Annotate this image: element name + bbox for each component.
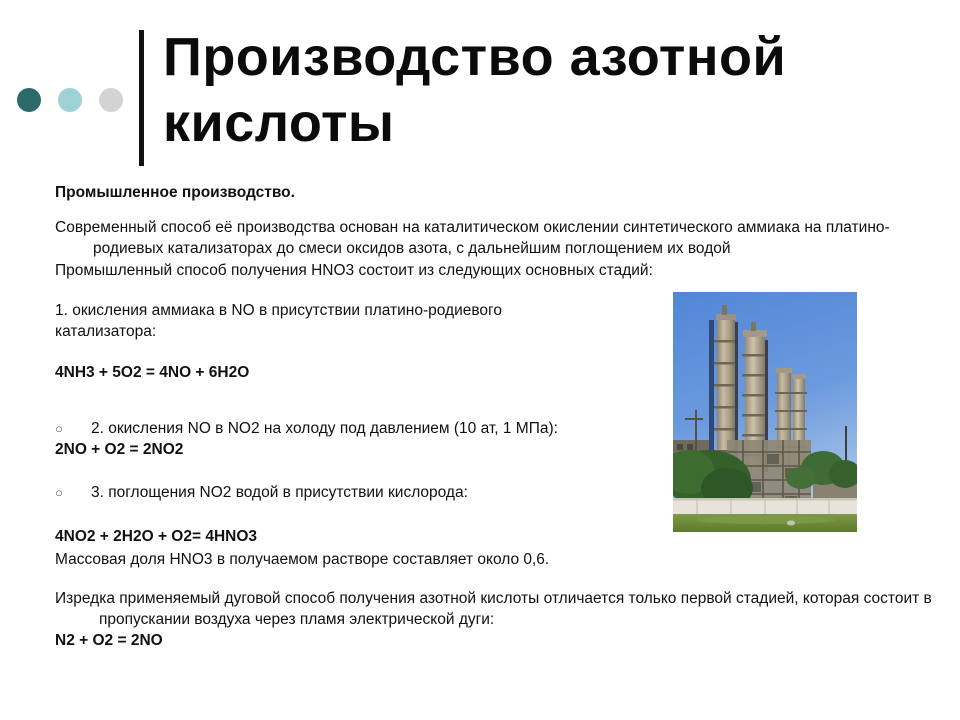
dot-light-teal-icon (58, 88, 82, 112)
factory-photo (673, 292, 857, 532)
slide-title-area: Производство азотной кислоты (0, 0, 960, 178)
stage-2-equation: 2NO + O2 = 2NO2 (55, 439, 665, 460)
hollow-circle-bullet-icon: ○ (55, 482, 73, 503)
section-heading: Промышленное производство. (55, 182, 655, 203)
stages-lead-text: Промышленный способ получения HNO3 состо… (55, 260, 910, 281)
dot-dark-teal-icon (17, 88, 41, 112)
factory-photo-image (673, 292, 857, 532)
arc-method-paragraph: Изредка применяемый дуговой способ получ… (55, 588, 960, 630)
hollow-circle-bullet-icon: ○ (55, 418, 73, 439)
stage-3-equation: 4NO2 + 2H2O + O2= 4HNO3 (55, 526, 665, 547)
stage-1-text: 1. окисления аммиака в NO в присутствии … (55, 300, 665, 342)
intro-paragraph: Современный способ её производства основ… (55, 217, 948, 259)
arc-method-equation: N2 + O2 = 2NO (55, 630, 665, 651)
stage-1-equation: 4NH3 + 5O2 = 4NO + 6H2O (55, 362, 665, 383)
title-vertical-rule (139, 30, 144, 166)
list-item-stage-3: ○ 3. поглощения NO2 водой в присутствии … (55, 482, 665, 503)
stage-3-text: 3. поглощения NO2 водой в присутствии ки… (73, 482, 468, 503)
mass-fraction-text: Массовая доля HNO3 в получаемом растворе… (55, 549, 665, 570)
decorative-dots (17, 88, 123, 112)
list-item-stage-2: ○ 2. окисления NO в NO2 на холоду под да… (55, 418, 665, 439)
page-title: Производство азотной кислоты (163, 24, 933, 156)
stage-2-text: 2. окисления NO в NO2 на холоду под давл… (73, 418, 558, 439)
dot-gray-icon (99, 88, 123, 112)
